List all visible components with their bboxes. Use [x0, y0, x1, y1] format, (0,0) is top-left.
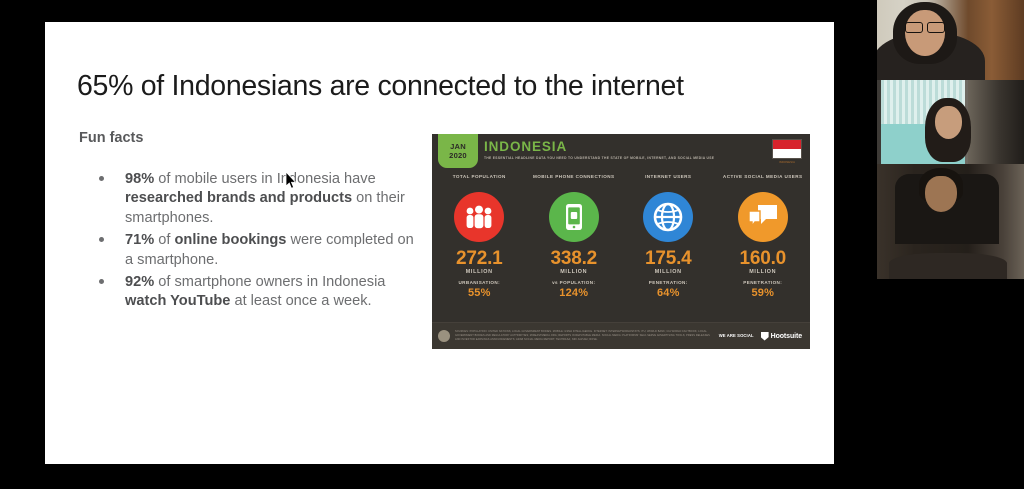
- stat-unit: MILLION: [716, 269, 811, 275]
- stat-unit: MILLION: [527, 269, 622, 275]
- section-heading: Fun facts: [79, 130, 143, 146]
- list-item: 92% of smartphone owners in Indonesia wa…: [85, 273, 415, 312]
- fact-emphasis: researched brands and products: [125, 190, 352, 206]
- stat-sub-label: URBANISATION:: [432, 280, 527, 285]
- page-title: 65% of Indonesians are connected to the …: [77, 70, 684, 103]
- flag-red-stripe: [773, 140, 801, 149]
- video-participants-panel: [877, 0, 1024, 489]
- glasses-icon: [905, 22, 945, 31]
- chat-bubbles-icon: [738, 192, 788, 242]
- stat-unit: MILLION: [432, 269, 527, 275]
- infographic-title: INDONESIA: [484, 139, 714, 154]
- date-badge-year: 2020: [449, 151, 467, 160]
- screen-capture: 65% of Indonesians are connected to the …: [0, 0, 1024, 489]
- bullet-icon: [99, 279, 104, 284]
- fact-text: of mobile users in Indonesia have: [154, 171, 375, 187]
- fact-emphasis: 71%: [125, 232, 154, 248]
- participant-tile-1[interactable]: [877, 0, 1024, 80]
- hootsuite-logo: Hootsuite: [761, 332, 802, 341]
- stat-value: 160.0: [716, 249, 811, 268]
- stat-sub-value: 55%: [432, 287, 527, 299]
- bullet-icon: [99, 237, 104, 242]
- stat-columns: TOTAL POPULATION 272.1 MILLION U: [432, 174, 810, 299]
- stat-sub-label: PENETRATION:: [716, 280, 811, 285]
- stat-sub-value: 124%: [527, 287, 622, 299]
- hootsuite-mark-icon: [761, 332, 769, 341]
- stat-value: 338.2: [527, 249, 622, 268]
- fact-emphasis: online bookings: [175, 232, 287, 248]
- stat-sub-label: PENETRATION:: [621, 280, 716, 285]
- stat-column-mobile-connections: MOBILE PHONE CONNECTIONS 338.2 MILLION v…: [527, 174, 622, 299]
- mobile-phone-icon: [549, 192, 599, 242]
- presentation-slide: 65% of Indonesians are connected to the …: [45, 22, 834, 464]
- infographic-subtitle: THE ESSENTIAL HEADLINE DATA YOU NEED TO …: [484, 156, 714, 160]
- stat-label: TOTAL POPULATION: [432, 174, 527, 188]
- fact-text: at least once a week.: [230, 293, 371, 309]
- date-badge: JAN 2020: [438, 134, 478, 168]
- globe-icon: [643, 192, 693, 242]
- list-item: 98% of mobile users in Indonesia have re…: [85, 170, 415, 228]
- stat-label: INTERNET USERS: [621, 174, 716, 188]
- stat-value: 272.1: [432, 249, 527, 268]
- infographic-footer: SOURCES: POPULATION: UNITED NATIONS; LOC…: [432, 323, 810, 349]
- source-seal-icon: [438, 330, 450, 342]
- hootsuite-logo-text: Hootsuite: [771, 333, 802, 340]
- people-icon: [454, 192, 504, 242]
- list-item: 71% of online bookings were completed on…: [85, 231, 415, 270]
- participant-tile-2[interactable]: [877, 80, 1024, 164]
- indonesia-digital-infographic: JAN 2020 INDONESIA THE ESSENTIAL HEADLIN…: [432, 134, 810, 349]
- footer-logos: WE ARE SOCIAL Hootsuite: [719, 332, 810, 341]
- flag-caption: INDONESIA: [772, 161, 802, 164]
- footer-sources-note: SOURCES: POPULATION: UNITED NATIONS; LOC…: [455, 330, 719, 342]
- stat-label: MOBILE PHONE CONNECTIONS: [527, 174, 622, 188]
- fact-text: of smartphone owners in Indonesia: [154, 274, 385, 290]
- participant-face: [905, 10, 945, 56]
- fact-emphasis: watch YouTube: [125, 293, 230, 309]
- stat-column-total-population: TOTAL POPULATION 272.1 MILLION U: [432, 174, 527, 299]
- participant-face: [925, 176, 957, 212]
- stat-column-internet-users: INTERNET USERS 175.4 MILLION PENETRATION…: [621, 174, 716, 299]
- fact-emphasis: 92%: [125, 274, 154, 290]
- stat-sub-value: 64%: [621, 287, 716, 299]
- infographic-header: JAN 2020 INDONESIA THE ESSENTIAL HEADLIN…: [432, 134, 810, 172]
- fun-facts-list: 98% of mobile users in Indonesia have re…: [85, 170, 415, 315]
- stat-label: ACTIVE SOCIAL MEDIA USERS: [716, 174, 811, 188]
- stat-sub-label: vs POPULATION:: [527, 280, 622, 285]
- participant-body: [889, 253, 1007, 279]
- stat-column-social-media-users: ACTIVE SOCIAL MEDIA USERS 160.0 MILLION …: [716, 174, 811, 299]
- mouse-cursor: [285, 172, 297, 190]
- we-are-social-logo-text: WE ARE SOCIAL: [719, 334, 754, 338]
- date-badge-month: JAN: [450, 142, 466, 151]
- infographic-titles: INDONESIA THE ESSENTIAL HEADLINE DATA YO…: [484, 139, 714, 160]
- stat-value: 175.4: [621, 249, 716, 268]
- stat-sub-value: 59%: [716, 287, 811, 299]
- indonesia-flag-icon: [772, 139, 802, 159]
- participant-face: [935, 106, 962, 139]
- we-are-social-logo: WE ARE SOCIAL: [719, 334, 754, 338]
- tile-right-shadow: [968, 80, 1024, 164]
- participant-tile-3[interactable]: [877, 164, 1024, 279]
- bullet-icon: [99, 176, 104, 181]
- fact-emphasis: 98%: [125, 171, 154, 187]
- fact-text: of: [154, 232, 174, 248]
- stat-unit: MILLION: [621, 269, 716, 275]
